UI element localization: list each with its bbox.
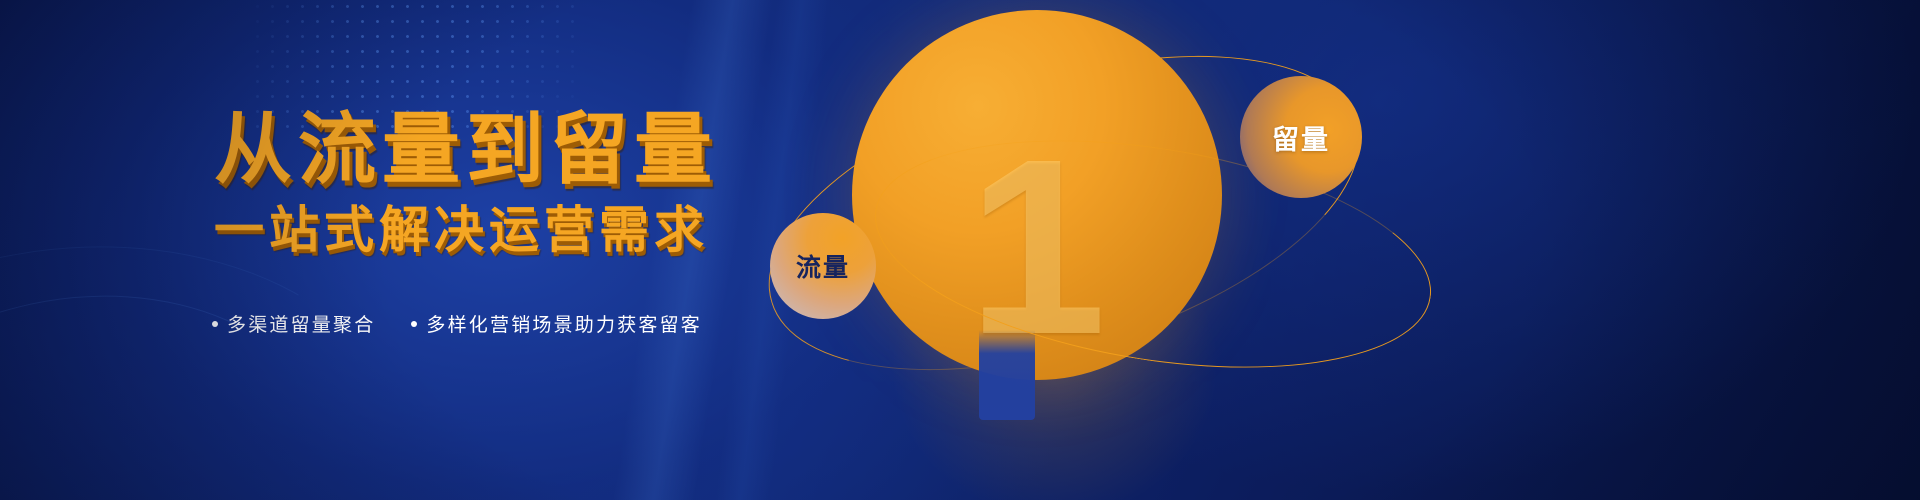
vignette-overlay: [0, 0, 1920, 500]
promo-banner: 从流量到留量 一站式解决运营需求 多渠道留量聚合 多样化营销场景助力获客留客 1…: [0, 0, 1920, 500]
